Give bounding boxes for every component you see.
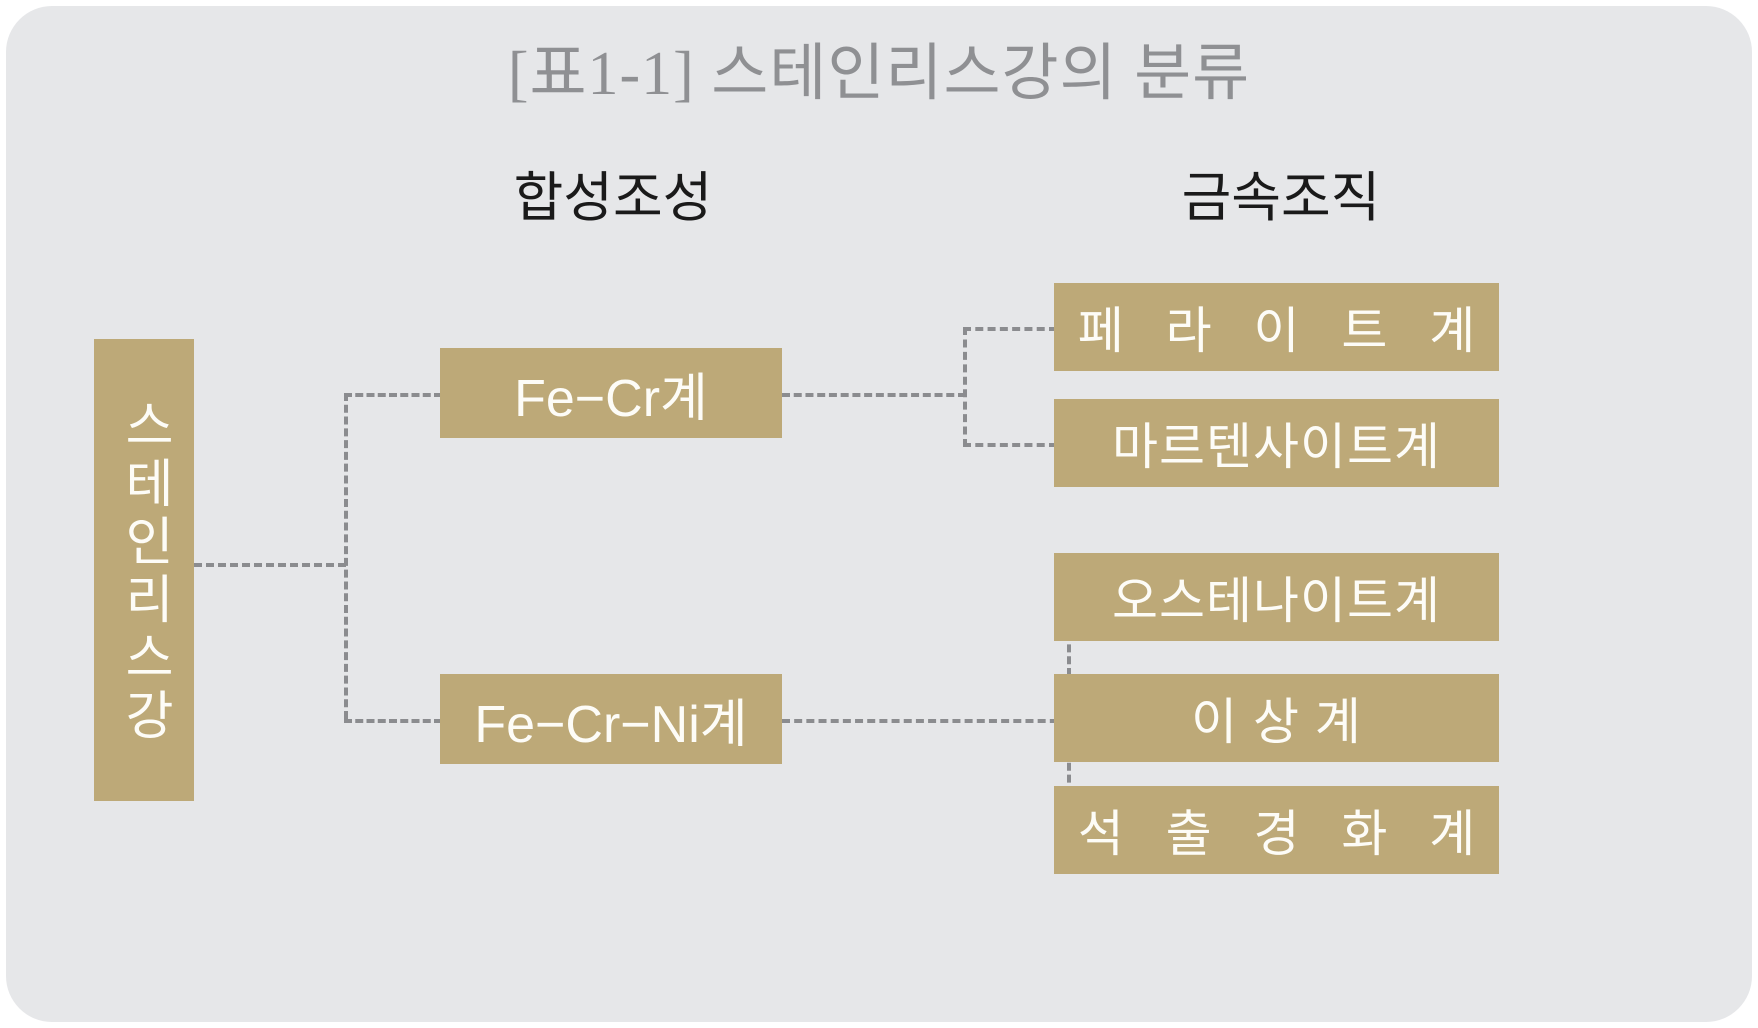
connector-to-fe-cr-ni — [344, 719, 442, 723]
node-austenite: 오스테나이트계 — [1054, 553, 1499, 641]
connector-to-ferrite — [963, 327, 1057, 331]
column-header-structure: 금속조직 — [1061, 166, 1501, 230]
node-fe-cr-ni: Fe−Cr−Ni계 — [440, 674, 782, 764]
connector-composition-trunk — [344, 393, 348, 719]
connector-fe-cr-out — [782, 393, 966, 397]
connector-root-out — [194, 563, 346, 567]
node-ferrite: 페 라 이 트 계 — [1054, 283, 1499, 371]
column-header-composition: 합성조성 — [403, 166, 823, 230]
connector-to-fe-cr — [344, 393, 442, 397]
node-stainless-steel: 스테인리스강 — [94, 339, 194, 801]
connector-fe-cr-ni-out — [782, 719, 1070, 723]
connector-to-martensite — [963, 443, 1057, 447]
node-duplex: 이 상 계 — [1054, 674, 1499, 762]
node-precipitation-hardening: 석 출 경 화 계 — [1054, 786, 1499, 874]
connector-upper-trunk — [963, 327, 967, 447]
figure-title: [표1-1] 스테인리스강의 분류 — [6, 36, 1752, 112]
node-martensite: 마르텐사이트계 — [1054, 399, 1499, 487]
node-fe-cr: Fe−Cr계 — [440, 348, 782, 438]
diagram-canvas: [표1-1] 스테인리스강의 분류 합성조성 금속조직 스테인리스강 Fe−Cr… — [6, 6, 1752, 1022]
